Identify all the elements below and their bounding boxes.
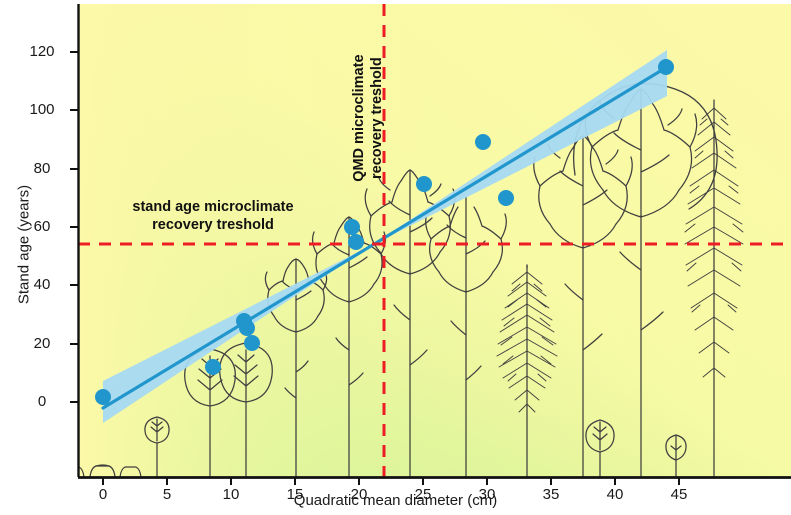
- data-point: [239, 320, 255, 336]
- panel-background: [78, 4, 791, 477]
- x-axis-title: Quadratic mean diameter (cm): [0, 492, 791, 509]
- y-axis-title: Stand age (years): [16, 135, 33, 355]
- chart-canvas: [0, 0, 791, 515]
- y-tick-label: 0: [20, 393, 64, 410]
- data-point: [658, 59, 674, 75]
- data-point: [95, 389, 111, 405]
- data-point: [344, 219, 360, 235]
- stand-age-threshold-annotation-line1: stand age microclimate: [98, 198, 328, 216]
- qmd-threshold-annotation-line1: QMD microclimate: [350, 18, 368, 218]
- data-point: [244, 335, 260, 351]
- data-point: [498, 190, 514, 206]
- figure-root: 0 20 40 60 80 100 120 0 5 10 15 20 25 30…: [0, 0, 791, 515]
- stand-age-threshold-annotation-line2: recovery treshold: [98, 216, 328, 234]
- qmd-threshold-annotation-line2: recovery treshold: [368, 18, 386, 218]
- stand-age-threshold-annotation: stand age microclimate recovery treshold: [98, 198, 328, 234]
- data-point: [475, 134, 491, 150]
- data-point: [205, 359, 221, 375]
- data-point: [348, 234, 364, 250]
- qmd-threshold-annotation: QMD microclimate recovery treshold: [350, 18, 386, 218]
- y-tick-label: 100: [20, 101, 64, 118]
- y-tick-label: 120: [20, 43, 64, 60]
- data-point: [416, 176, 432, 192]
